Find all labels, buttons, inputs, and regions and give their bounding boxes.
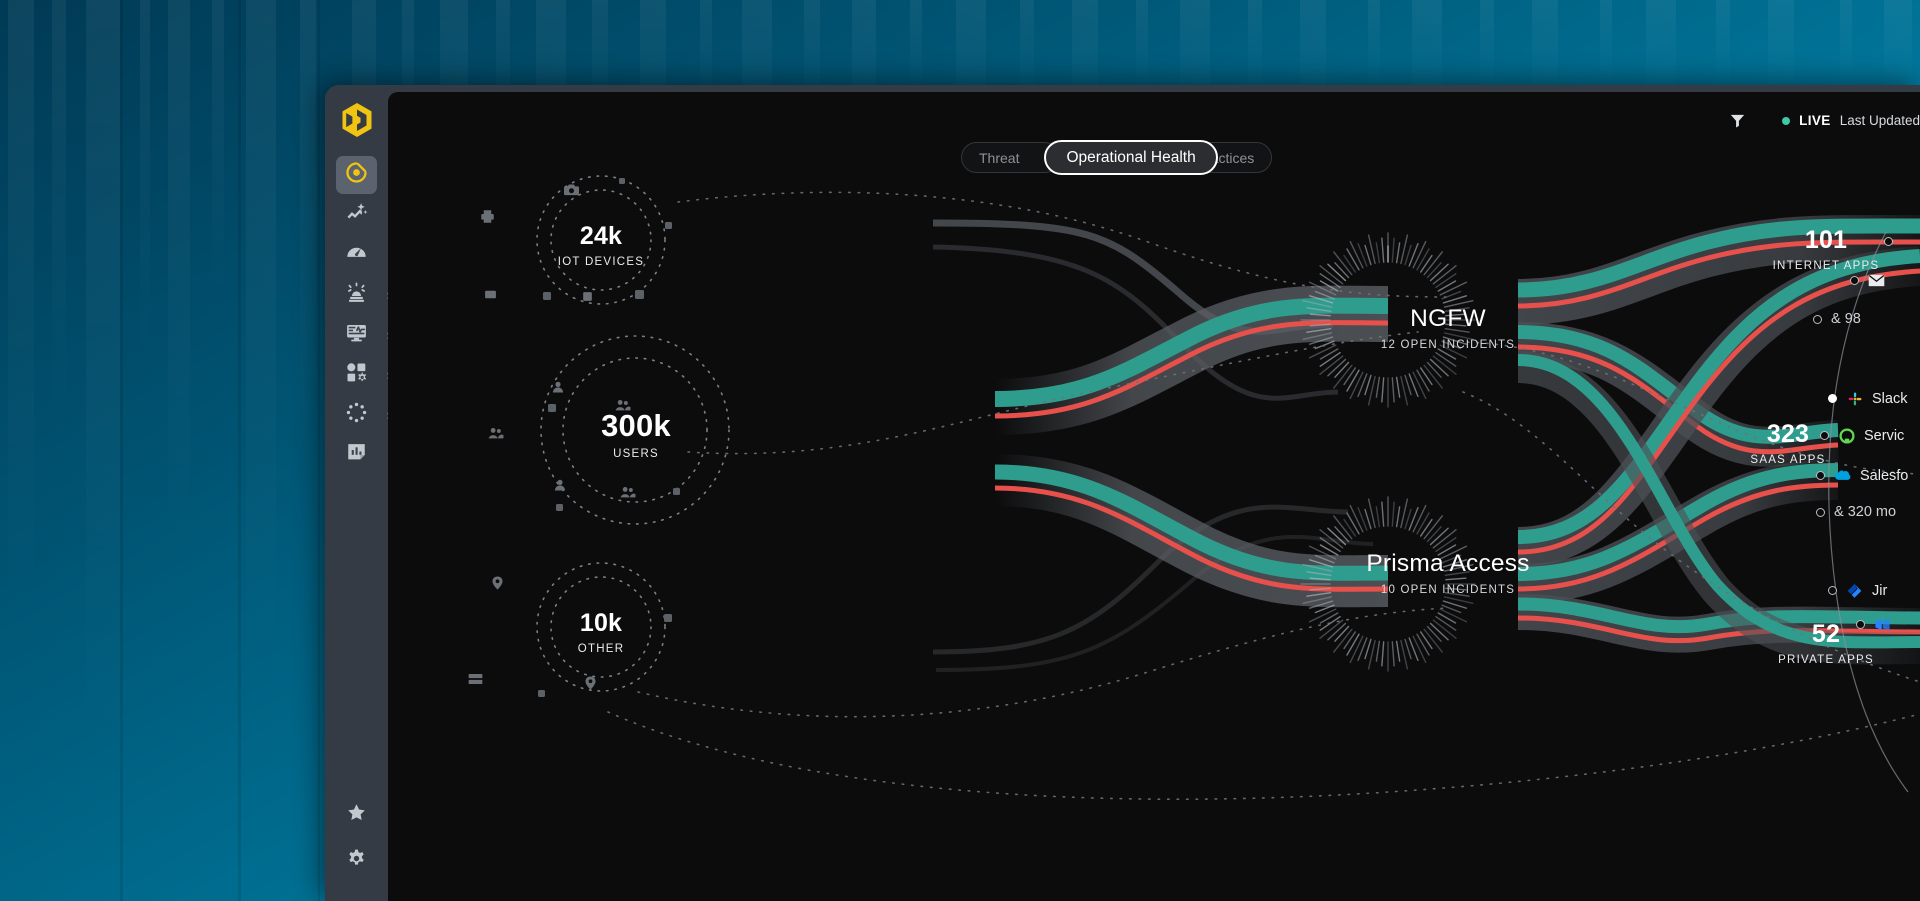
sidebar-nav-top: › › bbox=[336, 156, 377, 476]
node-dot-icon bbox=[1884, 237, 1893, 246]
app-node-salesforce[interactable]: Salesfo bbox=[1816, 467, 1908, 484]
gear-icon bbox=[346, 848, 367, 874]
app-node-label: Jir bbox=[1872, 583, 1887, 599]
servicenow-icon bbox=[1838, 427, 1855, 444]
node-dot-icon bbox=[1850, 276, 1859, 285]
location-pin-icon bbox=[491, 576, 504, 595]
star-icon bbox=[346, 802, 367, 828]
node-dot-icon bbox=[1828, 586, 1837, 595]
envelope-icon bbox=[1868, 272, 1885, 289]
camera-icon bbox=[564, 183, 579, 201]
monitor-pulse-icon bbox=[345, 321, 368, 349]
slack-icon bbox=[1846, 390, 1863, 407]
device-icon bbox=[484, 288, 497, 306]
app-node-label: Slack bbox=[1872, 391, 1907, 407]
app-node-label: Servic bbox=[1864, 428, 1904, 444]
node-dot-icon bbox=[1813, 315, 1822, 324]
app-node-more-98[interactable]: & 98 bbox=[1813, 311, 1861, 327]
node-dot-icon bbox=[1816, 471, 1825, 480]
app-node-teams[interactable] bbox=[1856, 616, 1891, 633]
node-dot-icon bbox=[1816, 508, 1825, 517]
app-node-label: & 98 bbox=[1831, 311, 1861, 327]
node-dot-icon bbox=[1820, 431, 1829, 440]
apps-gear-icon bbox=[345, 361, 368, 389]
sidebar-item-dashboard[interactable] bbox=[336, 156, 377, 194]
users-icon bbox=[615, 398, 631, 417]
sidebar-nav-bottom bbox=[325, 796, 388, 882]
hexagon-logo-icon[interactable] bbox=[340, 102, 374, 138]
teams-icon bbox=[1874, 616, 1891, 633]
tab-operational-health[interactable]: Operational Health bbox=[1044, 140, 1217, 175]
user-icon bbox=[553, 478, 567, 497]
sidebar-item-alerts[interactable]: › bbox=[336, 276, 377, 314]
sidebar-item-settings[interactable] bbox=[336, 842, 377, 880]
sidebar-item-automation[interactable]: › bbox=[336, 396, 377, 434]
main-canvas: LIVE Last Updated Threat Operational Hea… bbox=[388, 92, 1920, 901]
sidebar: › › bbox=[325, 85, 388, 901]
jira-icon bbox=[1846, 582, 1863, 599]
siren-alarm-icon bbox=[345, 281, 368, 309]
node-dot-icon bbox=[1856, 620, 1865, 629]
target-ring-icon bbox=[345, 161, 368, 189]
chip-icon bbox=[581, 290, 594, 308]
app-node-envelope[interactable] bbox=[1850, 272, 1885, 289]
app-node-more-320[interactable]: & 320 mo bbox=[1816, 504, 1896, 520]
app-node-0[interactable] bbox=[1884, 237, 1893, 246]
sidebar-item-favorites[interactable] bbox=[336, 796, 377, 834]
sankey-flow-diagram: 24k IOT DEVICES 300k USERS 10k OTHER bbox=[388, 92, 1920, 901]
speedometer-icon bbox=[345, 241, 368, 269]
app-window: › › bbox=[325, 85, 1920, 901]
node-dot-icon bbox=[1828, 394, 1837, 403]
users-icon bbox=[488, 426, 504, 445]
server-icon bbox=[468, 672, 483, 690]
printer-icon bbox=[480, 209, 495, 229]
report-chart-icon bbox=[345, 441, 368, 469]
sidebar-item-insights[interactable] bbox=[336, 196, 377, 234]
app-node-slack[interactable]: Slack bbox=[1828, 390, 1907, 407]
sparkle-trend-icon bbox=[345, 201, 368, 229]
sidebar-item-monitoring[interactable]: › bbox=[336, 316, 377, 354]
app-node-label: Salesfo bbox=[1860, 468, 1908, 484]
app-node-label: & 320 mo bbox=[1834, 504, 1896, 520]
app-node-servicenow[interactable]: Servic bbox=[1820, 427, 1904, 444]
dotted-circle-icon bbox=[345, 401, 368, 429]
location-pin-icon bbox=[584, 676, 597, 695]
sidebar-item-reports[interactable] bbox=[336, 436, 377, 474]
sidebar-item-performance[interactable] bbox=[336, 236, 377, 274]
user-icon bbox=[551, 380, 565, 399]
app-node-jira[interactable]: Jir bbox=[1828, 582, 1887, 599]
sidebar-item-manage[interactable]: › bbox=[336, 356, 377, 394]
salesforce-icon bbox=[1834, 467, 1851, 484]
users-icon bbox=[620, 485, 636, 504]
